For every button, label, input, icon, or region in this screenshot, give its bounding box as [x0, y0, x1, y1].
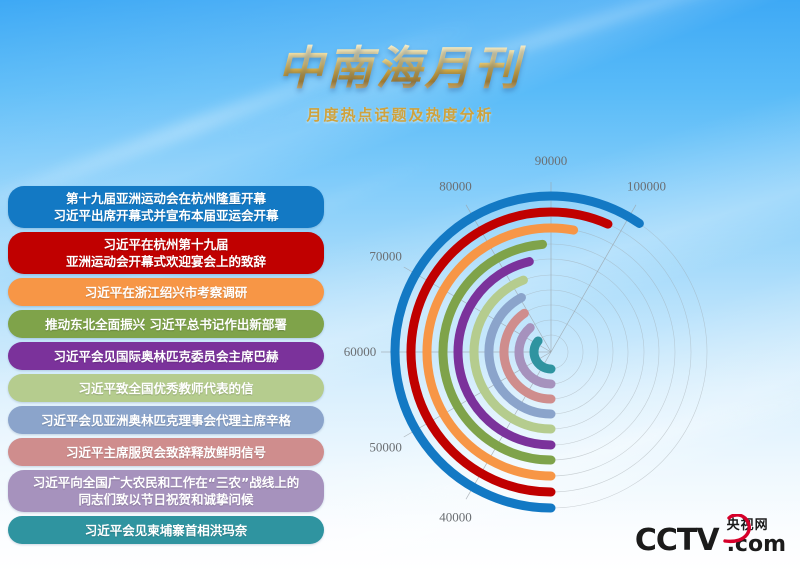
legend-item[interactable]: 习近平在浙江绍兴市考察调研: [8, 278, 324, 306]
poster-header: 中南海月刊 月度热点话题及热度分析: [0, 44, 800, 125]
cctv-logo[interactable]: CCTV 央视网 .com: [635, 519, 786, 556]
grid-arc: [543, 244, 659, 460]
radial-bar-chart: 400005000060000700008000090000100000: [326, 136, 800, 536]
axis-tick-label: 60000: [344, 344, 377, 359]
legend-item-label: 习近平在浙江绍兴市考察调研: [85, 284, 248, 301]
logo-swoosh-icon: [721, 514, 755, 544]
axis-tick-label: 50000: [369, 440, 402, 455]
legend-item-label: 习近平主席服贸会致辞释放鲜明信号: [66, 444, 266, 461]
legend-item-label: 习近平向全国广大农民和工作在“三农”战线上的 同志们致以节日祝贺和诚挚问候: [33, 474, 299, 508]
legend-item-label: 习近平致全国优秀教师代表的信: [78, 380, 253, 397]
legend-item[interactable]: 推动东北全面振兴 习近平总书记作出新部署: [8, 310, 324, 338]
grid-arc: [551, 224, 691, 492]
legend-list: 第十九届亚洲运动会在杭州隆重开幕 习近平出席开幕式并宣布本届亚运会开幕习近平在杭…: [8, 186, 324, 548]
legend-item[interactable]: 习近平会见亚洲奥林匹克理事会代理主席辛格: [8, 406, 324, 434]
poster-canvas: 中南海月刊 月度热点话题及热度分析 第十九届亚洲运动会在杭州隆重开幕 习近平出席…: [0, 0, 800, 572]
legend-item-label: 习近平会见亚洲奥林匹克理事会代理主席辛格: [41, 412, 291, 429]
legend-item-label: 推动东北全面振兴 习近平总书记作出新部署: [45, 316, 287, 333]
axis-tick-label: 40000: [439, 509, 472, 524]
legend-item[interactable]: 习近平致全国优秀教师代表的信: [8, 374, 324, 402]
legend-item[interactable]: 习近平会见国际奥林匹克委员会主席巴赫: [8, 342, 324, 370]
legend-item[interactable]: 习近平主席服贸会致辞释放鲜明信号: [8, 438, 324, 466]
legend-item[interactable]: 第十九届亚洲运动会在杭州隆重开幕 习近平出席开幕式并宣布本届亚运会开幕: [8, 186, 324, 228]
axis-tick-label: 80000: [439, 179, 472, 194]
page-title: 中南海月刊: [0, 44, 800, 92]
legend-item-label: 习近平会见柬埔寨首相洪玛奈: [85, 522, 248, 539]
legend-item[interactable]: 习近平在杭州第十九届 亚洲运动会开幕式欢迎宴会上的致辞: [8, 232, 324, 274]
legend-item-label: 第十九届亚洲运动会在杭州隆重开幕 习近平出席开幕式并宣布本届亚运会开幕: [53, 190, 278, 224]
axis-tick-label: 100000: [627, 179, 666, 194]
chart-svg: 400005000060000700008000090000100000: [326, 136, 800, 536]
axis-tick-label: 70000: [369, 249, 402, 264]
logo-cctv-text: CCTV: [635, 523, 719, 558]
legend-item[interactable]: 习近平会见柬埔寨首相洪玛奈: [8, 516, 324, 544]
axis-tick-label: 90000: [535, 153, 568, 168]
legend-item-label: 习近平会见国际奥林匹克委员会主席巴赫: [53, 348, 278, 365]
chart-bar[interactable]: [534, 341, 551, 369]
legend-item[interactable]: 习近平向全国广大农民和工作在“三农”战线上的 同志们致以节日祝贺和诚挚问候: [8, 470, 324, 512]
grid-arc: [551, 223, 707, 508]
legend-item-label: 习近平在杭州第十九届 亚洲运动会开幕式欢迎宴会上的致辞: [66, 236, 266, 270]
page-subtitle: 月度热点话题及热度分析: [0, 104, 800, 125]
